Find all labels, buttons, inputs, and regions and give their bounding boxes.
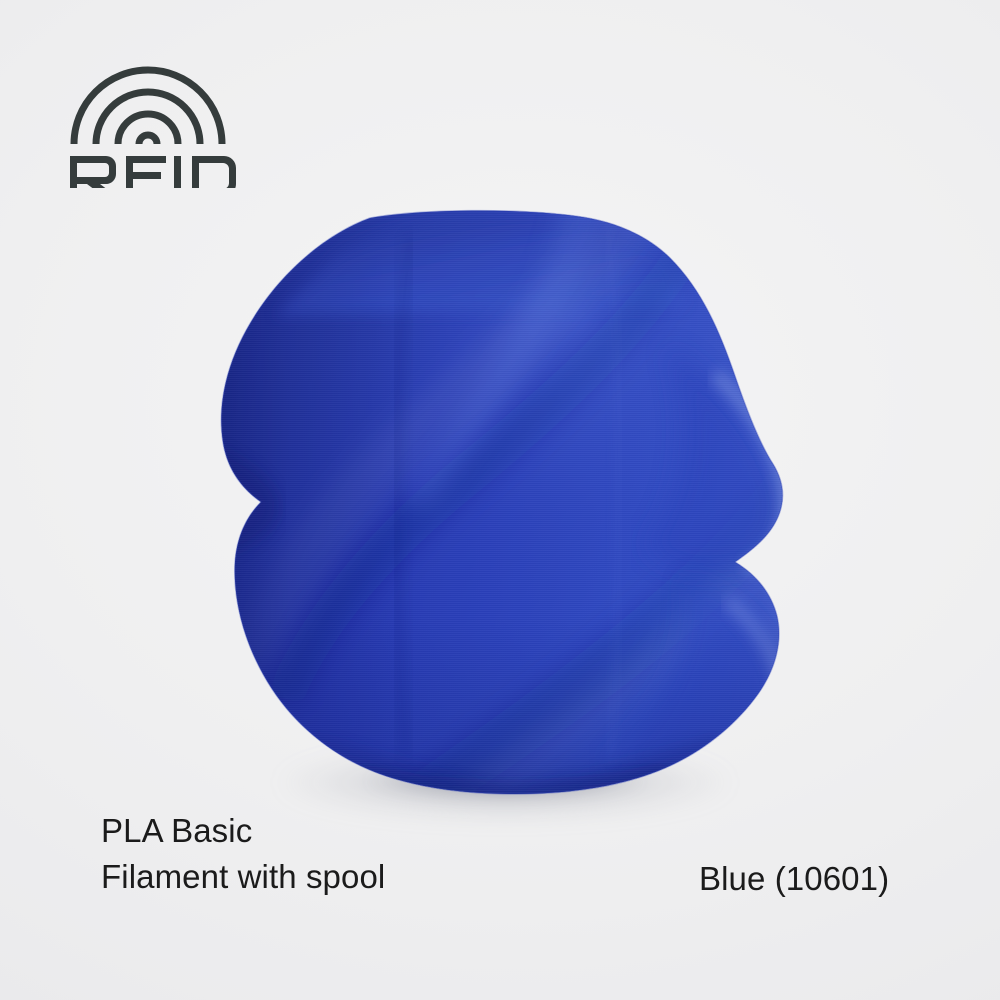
vase-body xyxy=(195,176,833,844)
spiral-vase-svg xyxy=(215,196,795,796)
product-image-canvas: PLA Basic Filament with spool Blue (1060… xyxy=(0,0,1000,1000)
color-caption: Blue (10601) xyxy=(699,856,889,902)
spiral-vase-object xyxy=(215,196,795,796)
product-name-line2: Filament with spool xyxy=(101,854,385,900)
product-caption: PLA Basic Filament with spool xyxy=(101,808,385,900)
product-name-line1: PLA Basic xyxy=(101,808,385,854)
